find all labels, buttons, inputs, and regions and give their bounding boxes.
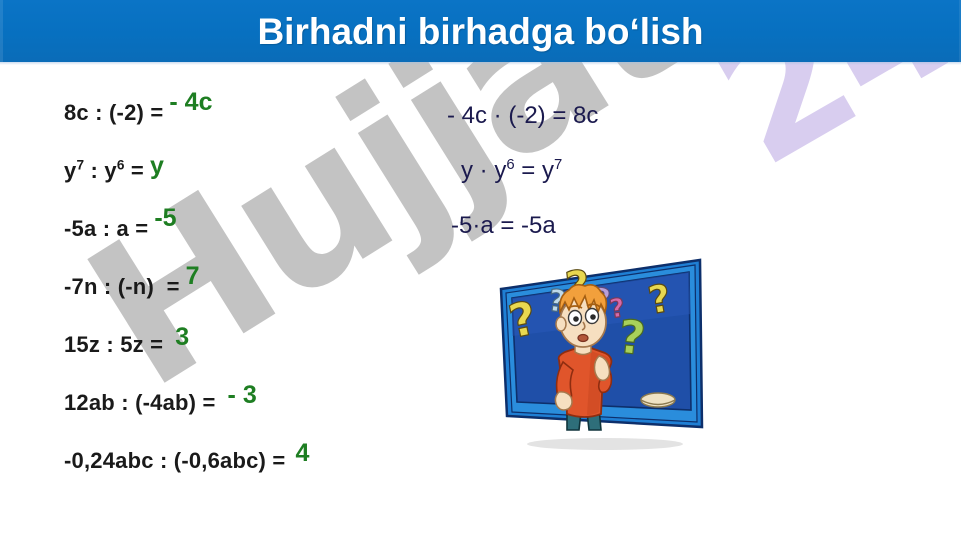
exercise-question: 8c : (-2) = [64, 100, 163, 126]
title-bar: Birhadni birhadga bo‘lish [0, 0, 961, 62]
exercise-question: -0,24abc : (-0,6abc) = [64, 448, 285, 474]
exercise-answer: 7 [186, 262, 200, 291]
exercise-question: -5a : a = [64, 216, 148, 242]
boy-thinking-at-blackboard-illustration: ? ? ? ? ? ? ? [495, 252, 720, 457]
slide-root: Hujjat 24 Birhadni birhadga bo‘lish 8c :… [0, 0, 961, 540]
exercise-answer: - 4c [169, 88, 212, 117]
page-title: Birhadni birhadga bo‘lish [257, 13, 703, 50]
exercise-answer: 4 [295, 439, 309, 468]
exercise-answer: - 3 [228, 381, 257, 410]
exercise-row: 15z : 5z = 3 [64, 330, 484, 388]
svg-text:?: ? [616, 309, 648, 365]
check-expression: y · y6 = y7 [461, 157, 562, 184]
exercise-answer: 3 [175, 323, 189, 352]
exercise-row: -0,24abc : (-0,6abc) = 4 [64, 446, 484, 504]
exercise-answer: y [150, 152, 164, 181]
check-row: y · y6 = y7 [447, 157, 747, 212]
exercise-row: -7n : (-n) = 7 [64, 272, 484, 330]
exercise-question: -7n : (-n) = [64, 274, 180, 300]
exercise-row: -5a : a = -5 [64, 214, 484, 272]
exercise-list: 8c : (-2) = - 4c y7 : y6 = y -5a : a = -… [64, 98, 484, 504]
check-list: - 4c · (-2) = 8c y · y6 = y7 -5·a = -5a [447, 102, 747, 267]
check-expression: -5·a = -5a [451, 212, 556, 239]
exercise-row: 12ab : (-4ab) = - 3 [64, 388, 484, 446]
exercise-question: y7 : y6 = [64, 158, 144, 184]
exercise-row: y7 : y6 = y [64, 156, 484, 214]
check-expression: - 4c · (-2) = 8c [447, 102, 598, 129]
exercise-question: 15z : 5z = [64, 332, 163, 358]
exercise-answer: -5 [154, 204, 176, 233]
exercise-question: 12ab : (-4ab) = [64, 390, 216, 416]
check-row: - 4c · (-2) = 8c [447, 102, 747, 157]
exercise-row: 8c : (-2) = - 4c [64, 98, 484, 156]
